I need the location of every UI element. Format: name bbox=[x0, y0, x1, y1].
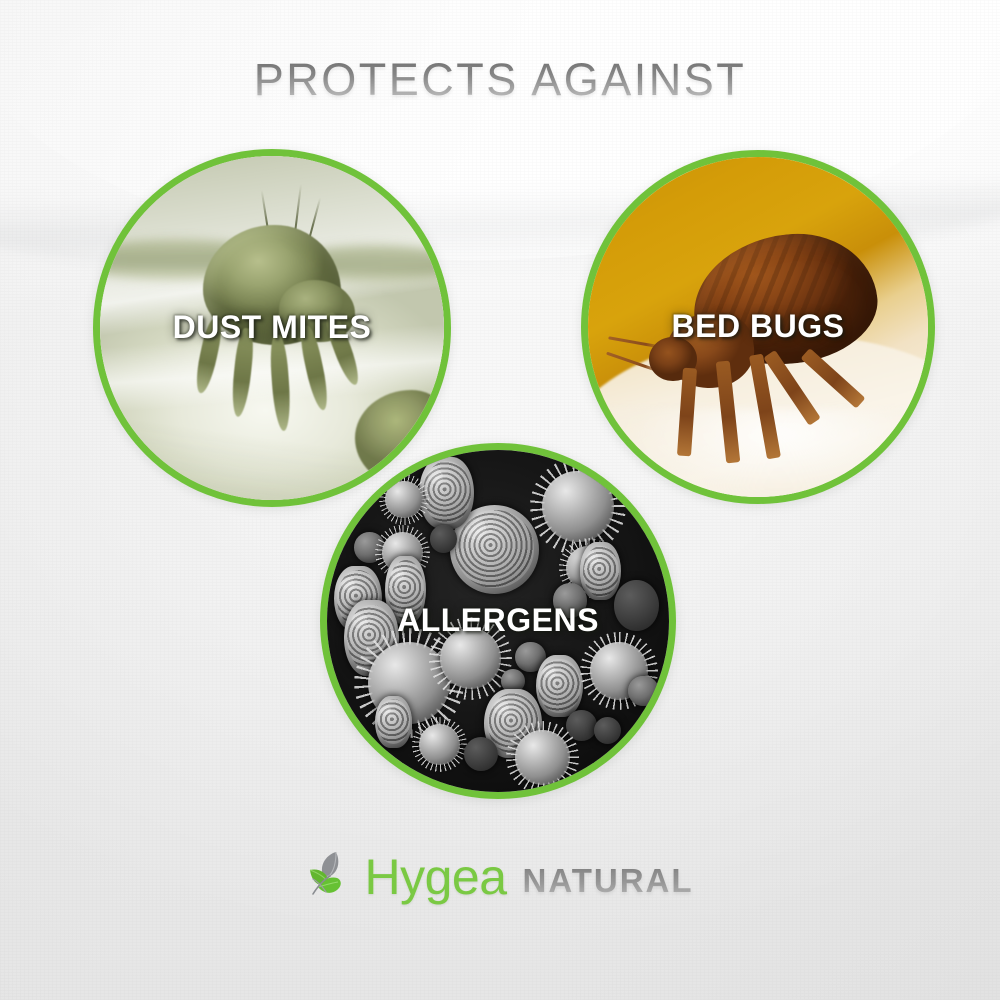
pollen-grain bbox=[515, 730, 570, 785]
feature-circle-allergens[interactable]: ALLERGENS bbox=[320, 443, 676, 799]
pollen-grain bbox=[536, 655, 584, 717]
brand-name: Hygea bbox=[364, 852, 506, 902]
circle-label-bed-bugs: BED BUGS bbox=[588, 308, 928, 345]
circle-label-allergens: ALLERGENS bbox=[327, 602, 669, 639]
pollen-grain bbox=[580, 542, 621, 600]
brand-logo[interactable]: Hygea NATURAL bbox=[0, 848, 1000, 906]
pollen-grain bbox=[430, 525, 457, 552]
pollen-grain bbox=[385, 481, 423, 519]
leaf-logo-icon bbox=[306, 848, 358, 906]
pollen-grain bbox=[594, 717, 621, 744]
brand-qualifier: NATURAL bbox=[523, 864, 694, 897]
product-feature-graphic: PROTECTS AGAINST DUST MITES bbox=[0, 0, 1000, 1000]
pollen-grain bbox=[419, 724, 460, 765]
pollen-grain bbox=[375, 696, 413, 747]
pollen-grain bbox=[628, 676, 659, 707]
page-title: PROTECTS AGAINST bbox=[0, 56, 1000, 103]
circle-label-dust-mites: DUST MITES bbox=[100, 309, 444, 346]
pollen-grain bbox=[464, 737, 498, 771]
pollen-grain bbox=[542, 471, 614, 543]
